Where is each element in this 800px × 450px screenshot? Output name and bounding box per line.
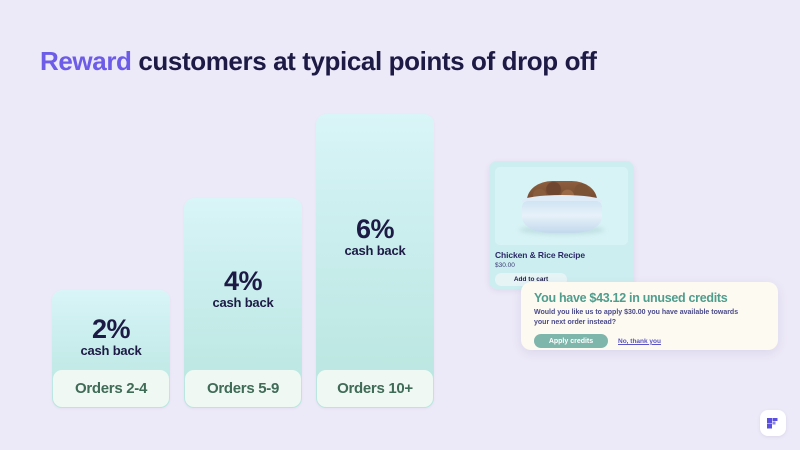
dog-food-bowl-image [495,167,628,245]
product-card[interactable]: Chicken & Rice Recipe $30.00 Add to cart [489,161,634,289]
credits-heading: You have $43.12 in unused credits [534,291,765,305]
apply-credits-button[interactable]: Apply credits [534,334,608,348]
bar-cashback-label: cash back [316,243,434,260]
cashback-bar-chart: 2% cash back Orders 2-4 4% cash back Ord… [52,108,442,408]
bar-orders-2-4: 2% cash back Orders 2-4 [52,290,170,408]
bar-value-group: 4% cash back [184,267,302,312]
bar-value-group: 6% cash back [316,215,434,260]
title-accent-word: Reward [40,46,132,76]
bar-footer-label: Orders 2-4 [53,370,169,407]
brand-logo-icon [766,416,780,430]
bar-cashback-label: cash back [184,295,302,312]
bar-orders-10-plus: 6% cash back Orders 10+ [316,114,434,408]
bar-value-group: 2% cash back [52,315,170,360]
decline-credits-link[interactable]: No, thank you [618,338,661,345]
brand-logo-badge [760,410,786,436]
bar-footer-label: Orders 5-9 [185,370,301,407]
credits-actions: Apply credits No, thank you [534,334,765,348]
product-price: $30.00 [495,262,628,269]
product-name: Chicken & Rice Recipe [495,250,628,260]
bar-percent-label: 2% [52,315,170,343]
bar-orders-5-9: 4% cash back Orders 5-9 [184,198,302,408]
title-rest: customers at typical points of drop off [132,46,597,76]
bowl-body [522,201,602,233]
page-title: Reward customers at typical points of dr… [40,46,597,77]
bar-percent-label: 6% [316,215,434,243]
bar-cashback-label: cash back [52,343,170,360]
bar-footer-label: Orders 10+ [317,370,433,407]
unused-credits-banner: You have $43.12 in unused credits Would … [521,282,778,350]
bar-percent-label: 4% [184,267,302,295]
credits-body-text: Would you like us to apply $30.00 you ha… [534,308,744,328]
